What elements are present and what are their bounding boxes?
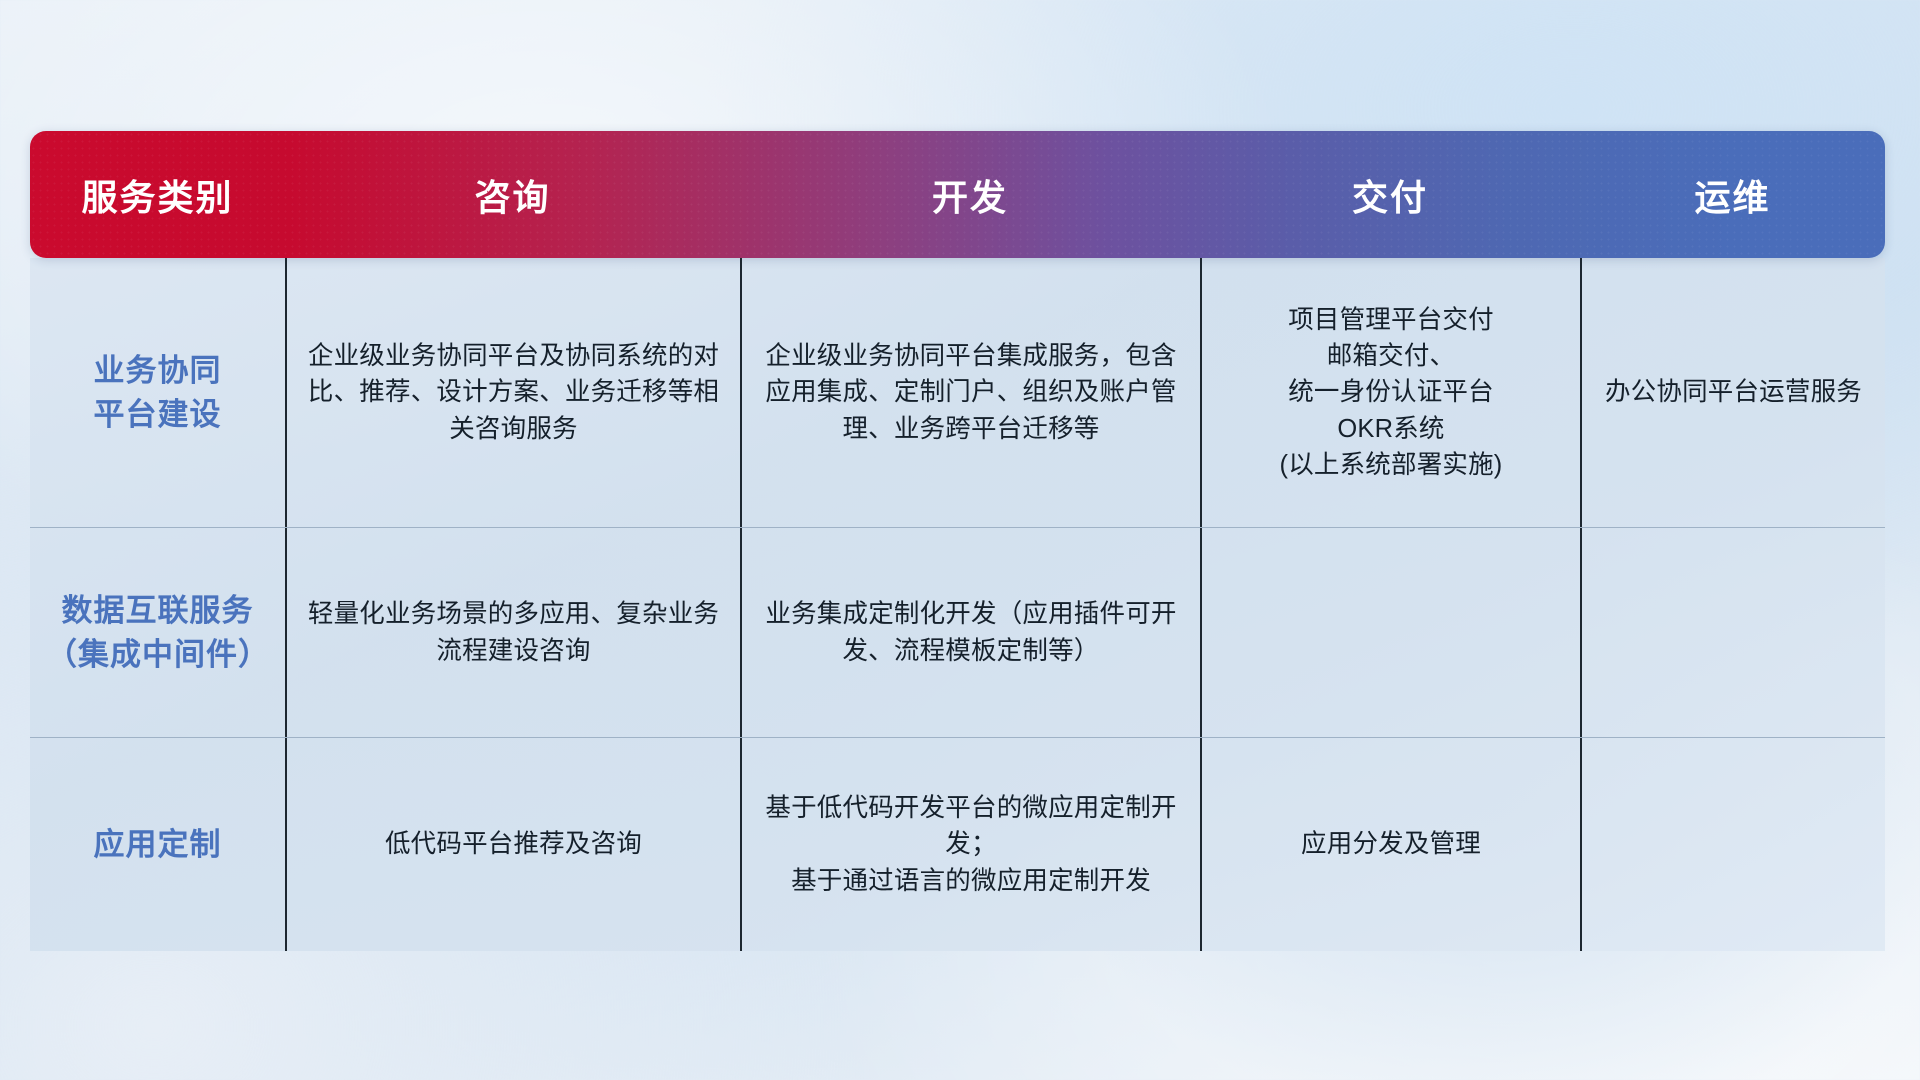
row-consulting-cell: 企业级业务协同平台及协同系统的对比、推荐、设计方案、业务迁移等相关咨询服务 <box>285 258 740 527</box>
row-operations-cell <box>1580 738 1885 951</box>
row-category-label: 数据互联服务 （集成中间件） <box>46 589 269 676</box>
row-category-cell: 业务协同 平台建设 <box>30 258 285 527</box>
row-operations-text: 办公协同平台运营服务 <box>1605 374 1862 410</box>
row-consulting-text: 企业级业务协同平台及协同系统的对比、推荐、设计方案、业务迁移等相关咨询服务 <box>303 338 724 447</box>
row-development-text: 企业级业务协同平台集成服务，包含应用集成、定制门户、组织及账户管理、业务跨平台迁… <box>758 338 1184 447</box>
table-row: 业务协同 平台建设 企业级业务协同平台及协同系统的对比、推荐、设计方案、业务迁移… <box>30 258 1885 528</box>
row-delivery-cell: 应用分发及管理 <box>1200 738 1580 951</box>
column-header-consulting: 咨询 <box>285 169 740 221</box>
row-development-cell: 企业级业务协同平台集成服务，包含应用集成、定制门户、组织及账户管理、业务跨平台迁… <box>740 258 1200 527</box>
table-header-row: 服务类别 咨询 开发 交付 运维 <box>30 131 1885 258</box>
table-row: 应用定制 低代码平台推荐及咨询 基于低代码开发平台的微应用定制开发； 基于通过语… <box>30 738 1885 951</box>
row-consulting-text: 轻量化业务场景的多应用、复杂业务流程建设咨询 <box>303 596 724 668</box>
row-consulting-cell: 低代码平台推荐及咨询 <box>285 738 740 951</box>
row-consulting-text: 低代码平台推荐及咨询 <box>385 826 642 862</box>
service-matrix-table: 服务类别 咨询 开发 交付 运维 业务协同 平台建设 企业级业务协同平台及协同系… <box>30 131 1885 951</box>
column-header-development: 开发 <box>740 169 1200 221</box>
row-delivery-cell <box>1200 528 1580 737</box>
table-body: 业务协同 平台建设 企业级业务协同平台及协同系统的对比、推荐、设计方案、业务迁移… <box>30 258 1885 951</box>
table-row: 数据互联服务 （集成中间件） 轻量化业务场景的多应用、复杂业务流程建设咨询 业务… <box>30 528 1885 738</box>
row-operations-cell <box>1580 528 1885 737</box>
column-header-operations: 运维 <box>1580 169 1885 221</box>
row-operations-cell: 办公协同平台运营服务 <box>1580 258 1885 527</box>
row-delivery-text: 应用分发及管理 <box>1301 826 1481 862</box>
row-consulting-cell: 轻量化业务场景的多应用、复杂业务流程建设咨询 <box>285 528 740 737</box>
row-delivery-cell: 项目管理平台交付 邮箱交付、 统一身份认证平台 OKR系统 (以上系统部署实施) <box>1200 258 1580 527</box>
row-category-label: 应用定制 <box>94 823 222 866</box>
row-category-cell: 数据互联服务 （集成中间件） <box>30 528 285 737</box>
row-category-label: 业务协同 平台建设 <box>94 349 222 436</box>
row-delivery-text: 项目管理平台交付 邮箱交付、 统一身份认证平台 OKR系统 (以上系统部署实施) <box>1280 302 1503 483</box>
row-development-text: 业务集成定制化开发（应用插件可开发、流程模板定制等） <box>758 596 1184 668</box>
row-development-cell: 基于低代码开发平台的微应用定制开发； 基于通过语言的微应用定制开发 <box>740 738 1200 951</box>
row-development-text: 基于低代码开发平台的微应用定制开发； 基于通过语言的微应用定制开发 <box>758 790 1184 899</box>
row-category-cell: 应用定制 <box>30 738 285 951</box>
column-header-delivery: 交付 <box>1200 169 1580 221</box>
row-development-cell: 业务集成定制化开发（应用插件可开发、流程模板定制等） <box>740 528 1200 737</box>
column-header-service-category: 服务类别 <box>30 169 285 221</box>
